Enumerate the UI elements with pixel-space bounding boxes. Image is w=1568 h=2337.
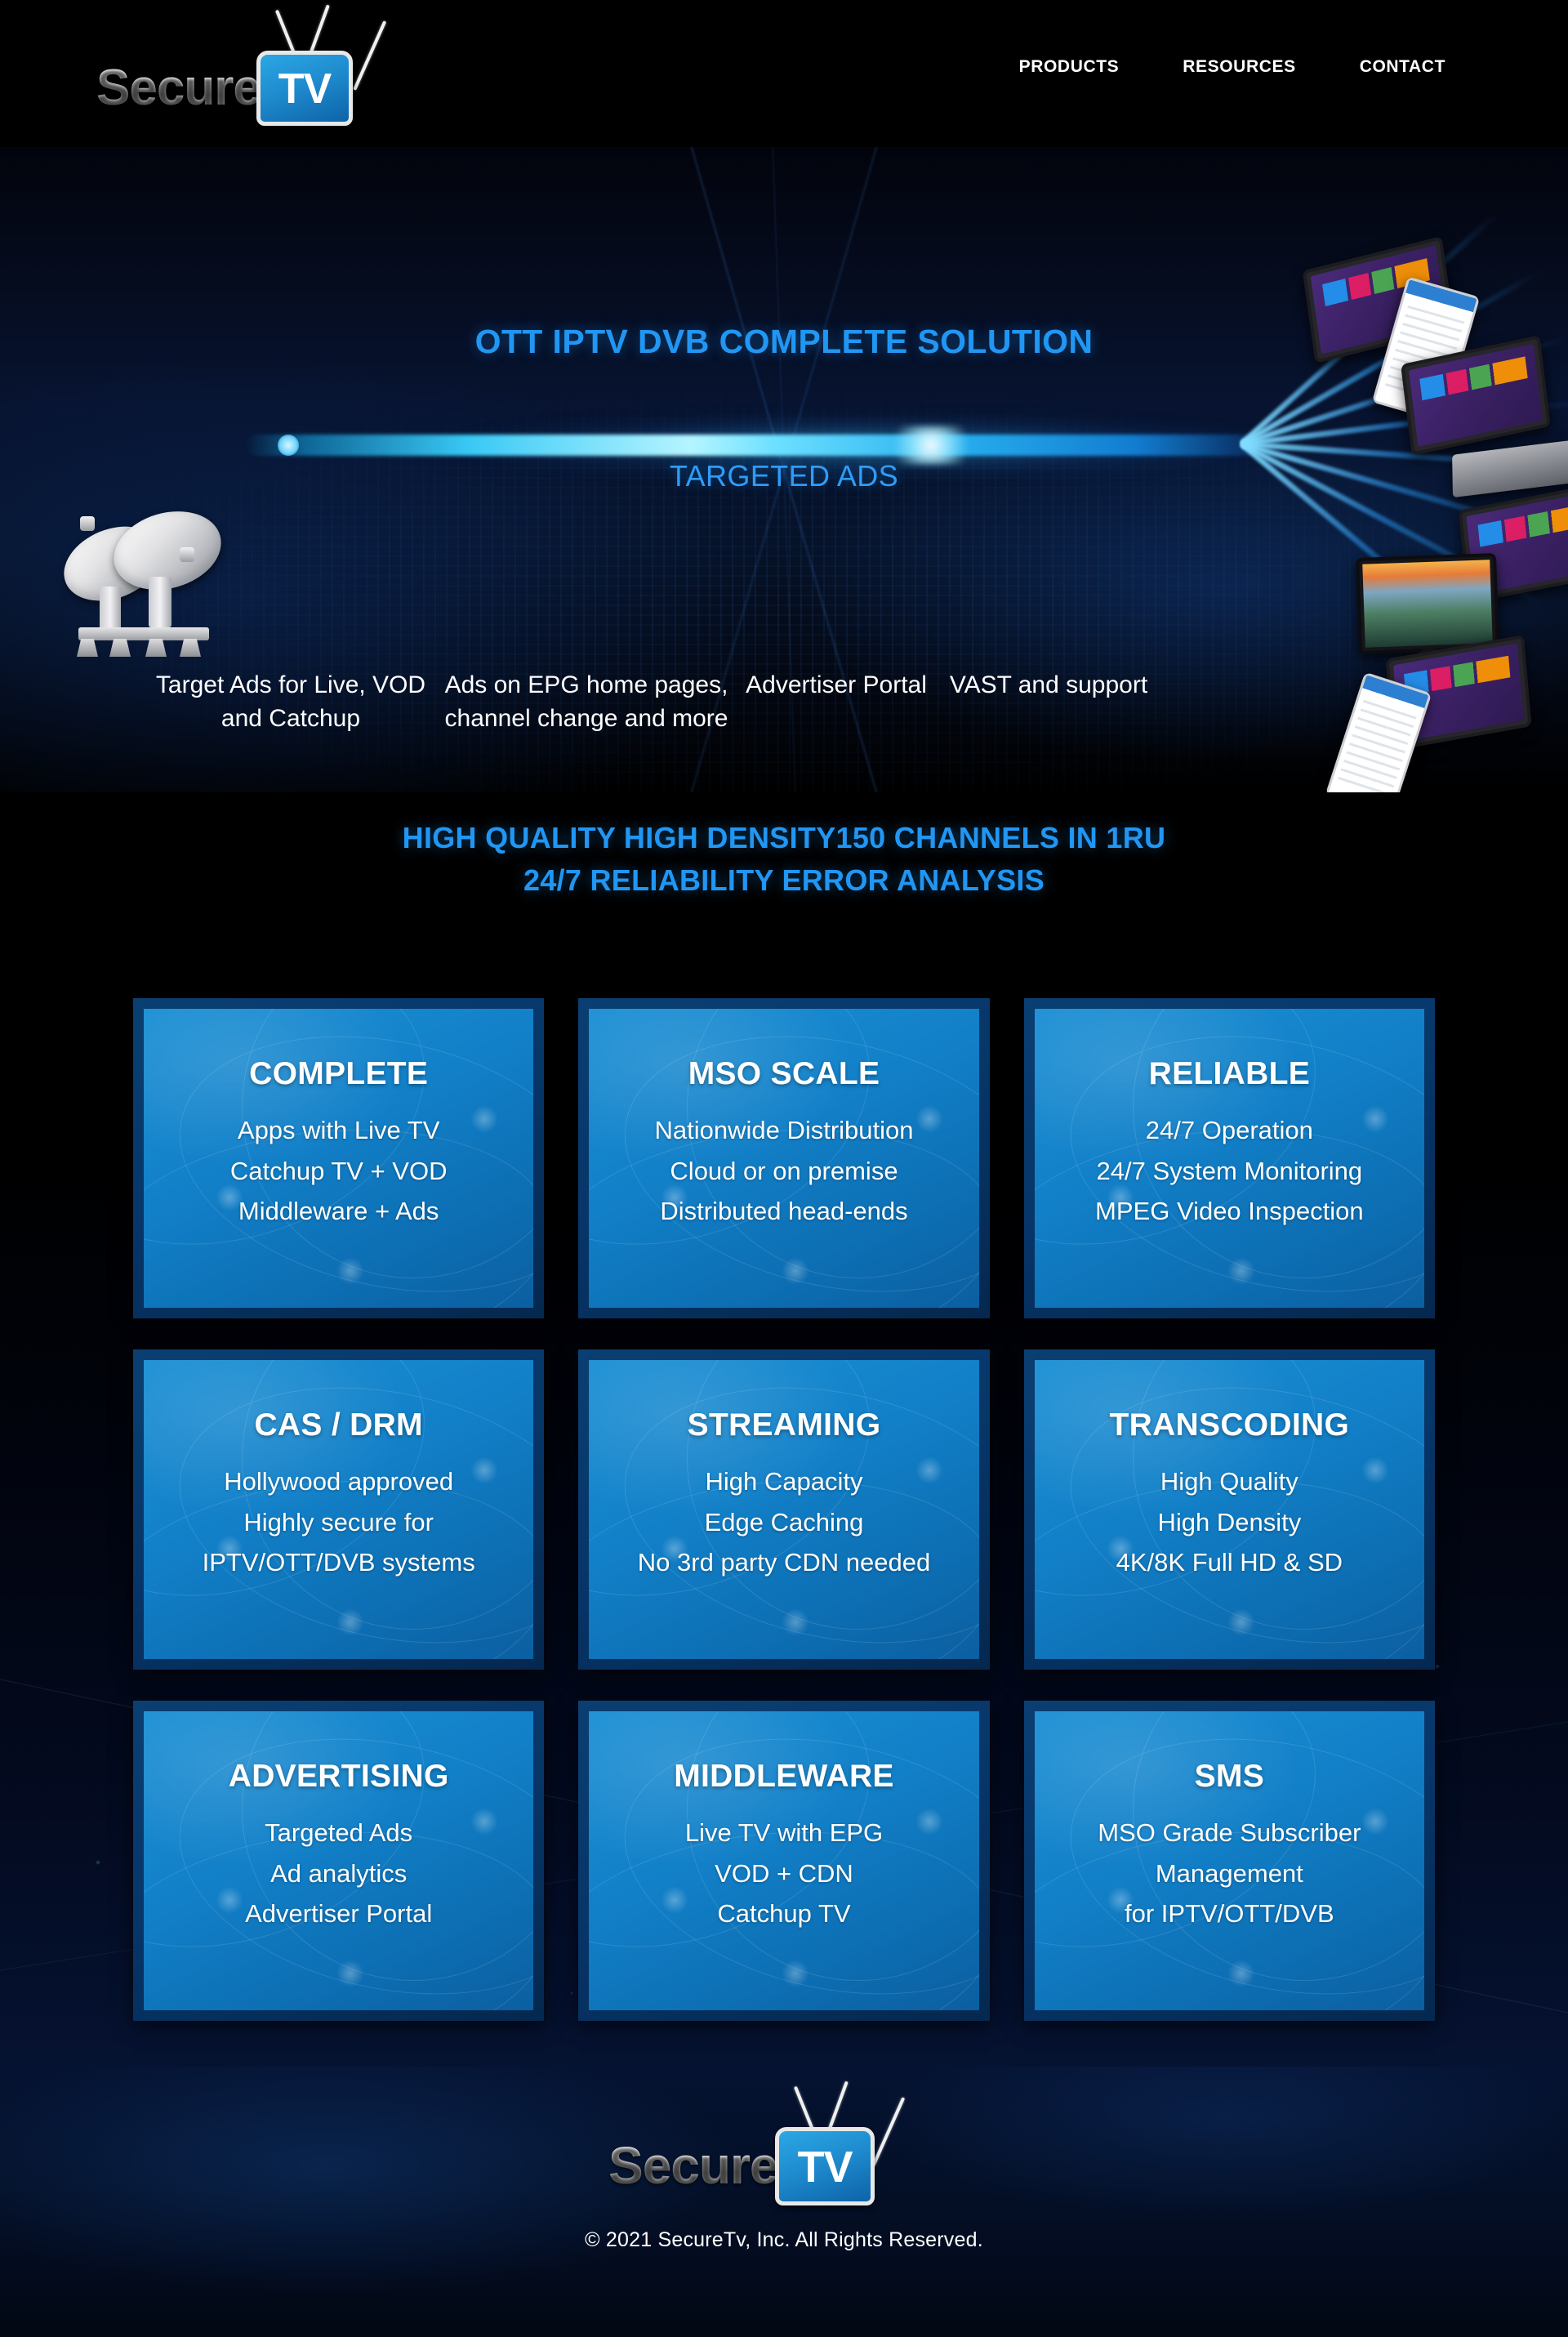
feature-card-title: MIDDLEWARE [674,1759,894,1795]
feature-card-line: Catchup TV [685,1893,883,1934]
feature-card[interactable]: TRANSCODING High Quality High Density 4K… [1024,1349,1435,1670]
feature-card-line: 24/7 System Monitoring [1095,1151,1364,1192]
feature-card-line: High Capacity [638,1461,930,1502]
feature-card[interactable]: MSO SCALE Nationwide Distribution Cloud … [578,998,989,1318]
section-headline-line-1: HIGH QUALITY HIGH DENSITY150 CHANNELS IN… [0,817,1568,859]
feature-card-line: High Quality [1116,1461,1343,1502]
hero-section: OTT IPTV DVB COMPLETE SOLUTION TARGETED … [0,147,1568,792]
feature-card-line: Distributed head-ends [654,1191,913,1232]
feature-card-line: MSO Grade Subscriber [1098,1813,1361,1853]
hero-feature-item: VAST and support [942,668,1155,736]
feature-card-line: Catchup TV + VOD [230,1151,448,1192]
feature-card[interactable]: CAS / DRM Hollywood approved Highly secu… [133,1349,544,1670]
hero-feature-columns: Target Ads for Live, VOD and Catchup Ads… [139,668,1298,736]
feature-card-body: High Quality High Density 4K/8K Full HD … [1116,1461,1343,1583]
feature-card-line: Advertiser Portal [245,1893,432,1934]
feature-card-line: for IPTV/OTT/DVB [1098,1893,1361,1934]
nav-item-contact[interactable]: CONTACT [1360,57,1445,77]
feature-card-line: Apps with Live TV [230,1110,448,1151]
feature-card-title: MSO SCALE [688,1056,880,1092]
feature-card[interactable]: MIDDLEWARE Live TV with EPG VOD + CDN Ca… [578,1701,989,2021]
feature-card-line: 4K/8K Full HD & SD [1116,1542,1343,1583]
feature-card-line: Edge Caching [638,1502,930,1543]
feature-card-body: MSO Grade Subscriber Management for IPTV… [1098,1813,1361,1934]
feature-card-line: Ad analytics [245,1853,432,1894]
page-root: Secure TV PRODUCTS RESOURCES CONTACT [0,0,1568,2337]
feature-card[interactable]: ADVERTISING Targeted Ads Ad analytics Ad… [133,1701,544,2021]
footer-logo-tv-label: TV [797,2145,852,2189]
logo-wordmark: Secure [96,59,261,117]
television-device-icon [1356,553,1499,654]
feature-card-title: CAS / DRM [254,1407,422,1443]
nav-item-resources[interactable]: RESOURCES [1183,57,1295,77]
feature-card[interactable]: COMPLETE Apps with Live TV Catchup TV + … [133,998,544,1318]
tv-antenna-icon [256,7,363,57]
feature-card-line: Targeted Ads [245,1813,432,1853]
feature-card-line: Cloud or on premise [654,1151,913,1192]
feature-card-line: MPEG Video Inspection [1095,1191,1364,1232]
hero-feature-item: Ads on EPG home pages, channel change an… [443,668,730,736]
feature-card-line: 24/7 Operation [1095,1110,1364,1151]
feature-card-body: Apps with Live TV Catchup TV + VOD Middl… [230,1110,448,1232]
feature-card-line: IPTV/OTT/DVB systems [203,1542,475,1583]
tv-antenna-icon [775,2083,881,2134]
tv-screen-icon: TV [775,2127,875,2205]
copyright-text: © 2021 SecureTv, Inc. All Rights Reserve… [0,2228,1568,2252]
logo-tv-label: TV [278,68,331,110]
signal-beam-icon [245,435,1258,456]
feature-card-title: COMPLETE [249,1056,428,1092]
feature-card-grid: COMPLETE Apps with Live TV Catchup TV + … [133,998,1435,2021]
feature-card-line: Middleware + Ads [230,1191,448,1232]
main-nav: PRODUCTS RESOURCES CONTACT [1019,57,1445,77]
beam-node-icon [278,435,299,456]
footer-logo-wordmark: Secure [608,2135,777,2196]
feature-card[interactable]: STREAMING High Capacity Edge Caching No … [578,1349,989,1670]
feature-card-line: VOD + CDN [685,1853,883,1894]
header-logo[interactable]: Secure TV [96,28,399,119]
feature-card-title: ADVERTISING [229,1759,449,1795]
feature-card-line: No 3rd party CDN needed [638,1542,930,1583]
feature-card-line: High Density [1116,1502,1343,1543]
feature-card-line: Highly secure for [203,1502,475,1543]
page-title: OTT IPTV DVB COMPLETE SOLUTION [0,323,1568,361]
feature-card-line: Nationwide Distribution [654,1110,913,1151]
feature-card-body: High Capacity Edge Caching No 3rd party … [638,1461,930,1583]
section-headline-line-2: 24/7 RELIABILITY ERROR ANALYSIS [0,859,1568,902]
feature-card-body: Targeted Ads Ad analytics Advertiser Por… [245,1813,432,1934]
hero-feature-item: Advertiser Portal [730,668,942,736]
feature-card-body: Nationwide Distribution Cloud or on prem… [654,1110,913,1232]
feature-card-body: Live TV with EPG VOD + CDN Catchup TV [685,1813,883,1934]
footer-logo[interactable]: Secure TV [608,2103,960,2201]
feature-card-title: SMS [1195,1759,1264,1795]
satellite-dish-icon [57,506,237,670]
feature-card-title: STREAMING [688,1407,881,1443]
feature-card[interactable]: SMS MSO Grade Subscriber Management for … [1024,1701,1435,2021]
feature-card-body: 24/7 Operation 24/7 System Monitoring MP… [1095,1110,1364,1232]
tv-screen-icon: TV [256,51,353,126]
feature-card[interactable]: RELIABLE 24/7 Operation 24/7 System Moni… [1024,998,1435,1318]
section-headline: HIGH QUALITY HIGH DENSITY150 CHANNELS IN… [0,817,1568,902]
site-footer: Secure TV © 2021 SecureTv, Inc. All Righ… [0,2067,1568,2337]
feature-card-title: TRANSCODING [1110,1407,1350,1443]
site-header: Secure TV PRODUCTS RESOURCES CONTACT [0,0,1568,147]
feature-card-body: Hollywood approved Highly secure for IPT… [203,1461,475,1583]
targeted-ads-title: TARGETED ADS [0,459,1568,493]
feature-card-title: RELIABLE [1149,1056,1310,1092]
feature-card-line: Hollywood approved [203,1461,475,1502]
nav-item-products[interactable]: PRODUCTS [1019,57,1120,77]
hero-feature-item: Target Ads for Live, VOD and Catchup [139,668,443,736]
feature-card-line: Live TV with EPG [685,1813,883,1853]
feature-card-line: Management [1098,1853,1361,1894]
